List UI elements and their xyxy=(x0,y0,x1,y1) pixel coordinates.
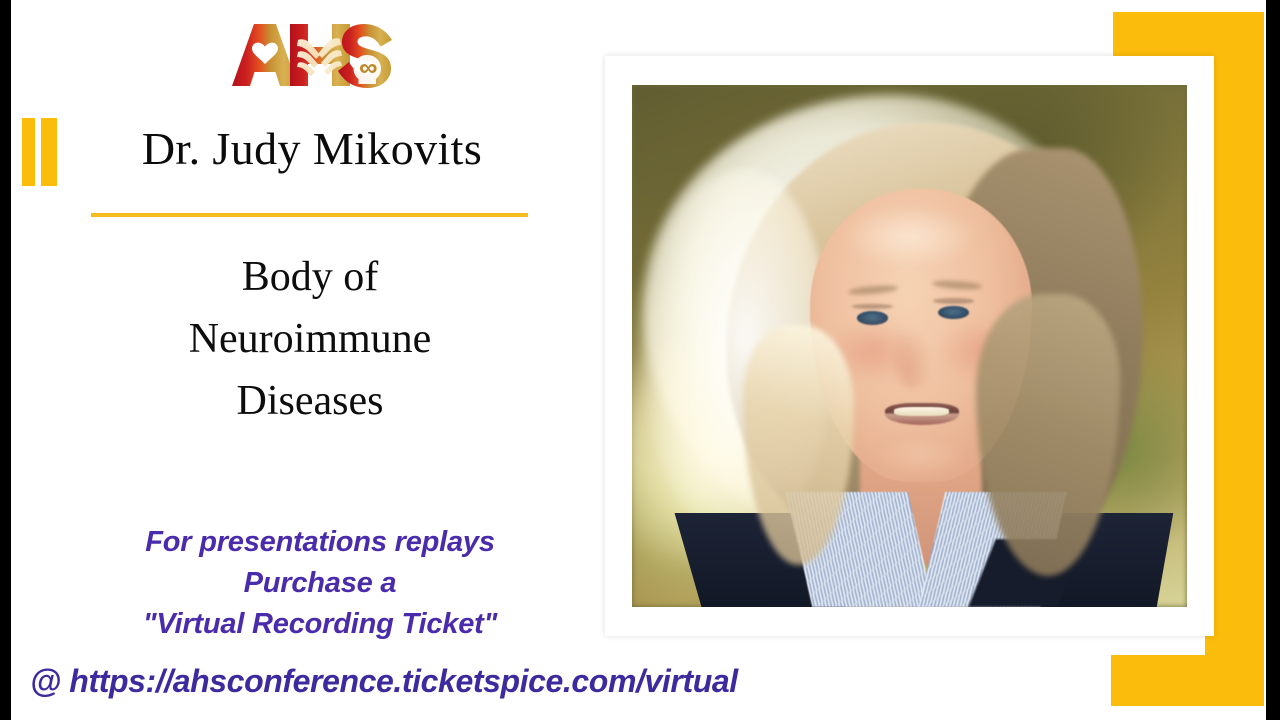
talk-title-line-3: Diseases xyxy=(70,370,550,432)
accent-bar-secondary xyxy=(41,118,57,186)
talk-title-line-1: Body of xyxy=(70,246,550,308)
letterbox-band-right xyxy=(1266,0,1280,720)
gold-divider xyxy=(91,213,528,217)
talk-title: Body of Neuroimmune Diseases xyxy=(70,246,550,432)
ahs-logo xyxy=(228,18,396,90)
promo-line-2: Purchase a xyxy=(40,563,600,604)
speaker-photo xyxy=(632,85,1187,607)
speaker-photo-frame xyxy=(605,56,1214,636)
promo-line-1: For presentations replays xyxy=(40,522,600,563)
promo-line-3: "Virtual Recording Ticket" xyxy=(40,604,600,645)
ticket-purchase-url[interactable]: @ https://ahsconference.ticketspice.com/… xyxy=(30,660,920,702)
accent-bar-primary xyxy=(22,118,35,186)
forehead-highlight xyxy=(843,205,976,268)
teeth xyxy=(894,407,950,416)
presentation-slide: Dr. Judy Mikovits Body of Neuroimmune Di… xyxy=(0,0,1280,720)
talk-title-line-2: Neuroimmune xyxy=(70,308,550,370)
gold-bracket-bottom-arm xyxy=(1111,655,1264,706)
promo-text: For presentations replays Purchase a "Vi… xyxy=(40,522,600,645)
speaker-photo-content xyxy=(632,85,1187,607)
nose xyxy=(893,330,932,387)
speaker-name: Dr. Judy Mikovits xyxy=(92,118,532,180)
letterbox-band-left xyxy=(0,0,11,720)
